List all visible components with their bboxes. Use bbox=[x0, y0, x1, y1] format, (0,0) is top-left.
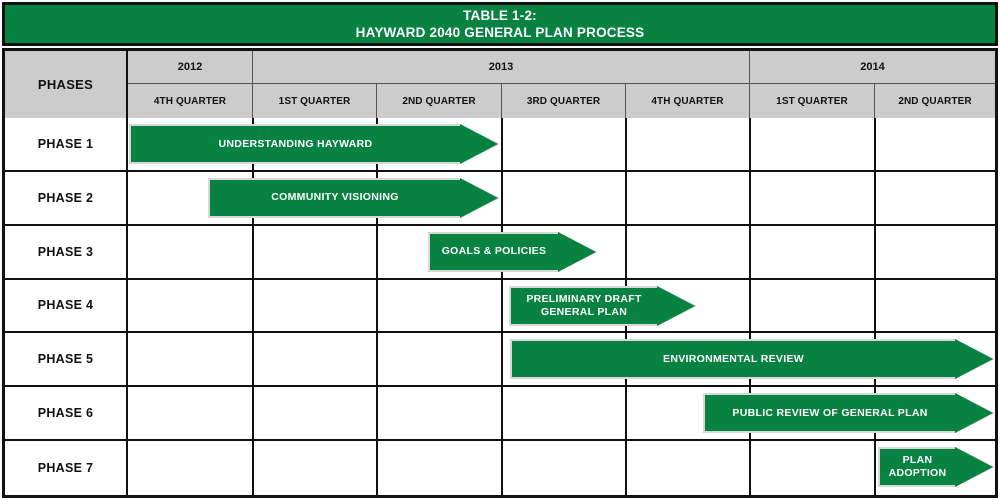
table-row: PHASE 2 COMMUNITY VISIONING bbox=[5, 172, 995, 226]
cell-divider bbox=[376, 333, 378, 385]
table-body: PHASE 1 UNDERSTANDING HAYWARD PHASE 2 bbox=[5, 118, 995, 495]
header-year-2013: 2013 bbox=[253, 51, 750, 84]
gantt-bar-label: GOALS & POLICIES bbox=[436, 245, 553, 258]
header-year-2014: 2014 bbox=[750, 51, 995, 84]
table-row: PHASE 3 GOALS & POLICIES bbox=[5, 226, 995, 280]
row-label-phase-4: PHASE 4 bbox=[5, 280, 128, 332]
gantt-bar-phase-4[interactable]: PRELIMINARY DRAFT GENERAL PLAN bbox=[509, 286, 659, 326]
arrow-tip-icon bbox=[558, 232, 596, 272]
gantt-bar-phase-3[interactable]: GOALS & POLICIES bbox=[428, 232, 560, 272]
cell-divider bbox=[625, 441, 627, 495]
table-title-banner: TABLE 1-2: HAYWARD 2040 GENERAL PLAN PRO… bbox=[2, 2, 998, 46]
gantt-table: TABLE 1-2: HAYWARD 2040 GENERAL PLAN PRO… bbox=[0, 0, 1000, 500]
table-header: PHASES 2012 2013 2014 4TH QUARTER 1ST QU… bbox=[5, 51, 995, 118]
cell-divider bbox=[376, 441, 378, 495]
gantt-bar-label: UNDERSTANDING HAYWARD bbox=[213, 138, 379, 151]
cell-divider bbox=[252, 280, 254, 332]
cell-divider bbox=[252, 333, 254, 385]
cell-divider bbox=[874, 226, 876, 278]
cell-divider bbox=[625, 118, 627, 170]
header-phases-cell: PHASES bbox=[5, 51, 128, 118]
gantt-bar-label: PUBLIC REVIEW OF GENERAL PLAN bbox=[726, 407, 933, 420]
row-label-phase-6: PHASE 6 bbox=[5, 387, 128, 439]
gantt-bar-label: PLAN ADOPTION bbox=[880, 454, 955, 480]
cell-divider bbox=[749, 172, 751, 224]
header-quarter-3: 3RD QUARTER bbox=[502, 84, 626, 118]
cell-divider bbox=[501, 172, 503, 224]
header-year-2012: 2012 bbox=[128, 51, 253, 84]
header-quarter-6: 2ND QUARTER bbox=[875, 84, 995, 118]
header-quarter-1: 1ST QUARTER bbox=[253, 84, 377, 118]
cell-divider bbox=[625, 387, 627, 439]
row-label-phase-3: PHASE 3 bbox=[5, 226, 128, 278]
cell-divider bbox=[874, 280, 876, 332]
gantt-bar-label: COMMUNITY VISIONING bbox=[265, 191, 404, 204]
gantt-bar-phase-7[interactable]: PLAN ADOPTION bbox=[878, 447, 957, 487]
cell-divider bbox=[501, 280, 503, 332]
gantt-bar-label-line1: PRELIMINARY DRAFT bbox=[526, 293, 641, 305]
cell-divider bbox=[501, 441, 503, 495]
table-title-line2: HAYWARD 2040 GENERAL PLAN PROCESS bbox=[356, 24, 645, 41]
arrow-tip-icon bbox=[955, 447, 993, 487]
cell-divider bbox=[874, 118, 876, 170]
cell-divider bbox=[874, 172, 876, 224]
arrow-tip-icon bbox=[460, 124, 498, 164]
arrow-tip-icon bbox=[955, 393, 993, 433]
gantt-bar-phase-5[interactable]: ENVIRONMENTAL REVIEW bbox=[510, 339, 957, 379]
cell-divider bbox=[749, 226, 751, 278]
table-row: PHASE 4 PRELIMINARY DRAFT GENERAL PLAN bbox=[5, 280, 995, 334]
gantt-bar-label: PRELIMINARY DRAFT GENERAL PLAN bbox=[520, 293, 647, 319]
table-row: PHASE 7 PLAN ADOPTION bbox=[5, 441, 995, 495]
cell-divider bbox=[749, 118, 751, 170]
header-quarter-2: 2ND QUARTER bbox=[377, 84, 502, 118]
header-quarter-5: 1ST QUARTER bbox=[750, 84, 875, 118]
cell-divider bbox=[625, 226, 627, 278]
cell-divider bbox=[376, 226, 378, 278]
cell-divider bbox=[874, 441, 876, 495]
table-row: PHASE 1 UNDERSTANDING HAYWARD bbox=[5, 118, 995, 172]
table-grid: PHASES 2012 2013 2014 4TH QUARTER 1ST QU… bbox=[2, 48, 998, 498]
gantt-bar-phase-2[interactable]: COMMUNITY VISIONING bbox=[208, 178, 462, 218]
row-label-phase-7: PHASE 7 bbox=[5, 441, 128, 495]
header-quarter-4: 4TH QUARTER bbox=[626, 84, 750, 118]
cell-divider bbox=[376, 387, 378, 439]
cell-divider bbox=[501, 118, 503, 170]
cell-divider bbox=[501, 333, 503, 385]
cell-divider bbox=[501, 387, 503, 439]
table-row: PHASE 5 ENVIRONMENTAL REVIEW bbox=[5, 333, 995, 387]
cell-divider bbox=[749, 441, 751, 495]
gantt-bar-phase-6[interactable]: PUBLIC REVIEW OF GENERAL PLAN bbox=[703, 393, 957, 433]
gantt-bar-label-line2: GENERAL PLAN bbox=[541, 306, 627, 318]
gantt-bar-phase-1[interactable]: UNDERSTANDING HAYWARD bbox=[129, 124, 462, 164]
row-label-phase-2: PHASE 2 bbox=[5, 172, 128, 224]
row-label-phase-5: PHASE 5 bbox=[5, 333, 128, 385]
gantt-bar-label: ENVIRONMENTAL REVIEW bbox=[657, 353, 810, 366]
cell-divider bbox=[625, 172, 627, 224]
header-quarter-0: 4TH QUARTER bbox=[128, 84, 253, 118]
table-title-line1: TABLE 1-2: bbox=[463, 7, 537, 24]
cell-divider bbox=[252, 387, 254, 439]
arrow-tip-icon bbox=[657, 286, 695, 326]
row-label-phase-1: PHASE 1 bbox=[5, 118, 128, 170]
cell-divider bbox=[252, 441, 254, 495]
cell-divider bbox=[376, 280, 378, 332]
arrow-tip-icon bbox=[955, 339, 993, 379]
arrow-tip-icon bbox=[460, 178, 498, 218]
cell-divider bbox=[749, 280, 751, 332]
cell-divider bbox=[252, 226, 254, 278]
table-row: PHASE 6 PUBLIC REVIEW OF GENERAL PLAN bbox=[5, 387, 995, 441]
